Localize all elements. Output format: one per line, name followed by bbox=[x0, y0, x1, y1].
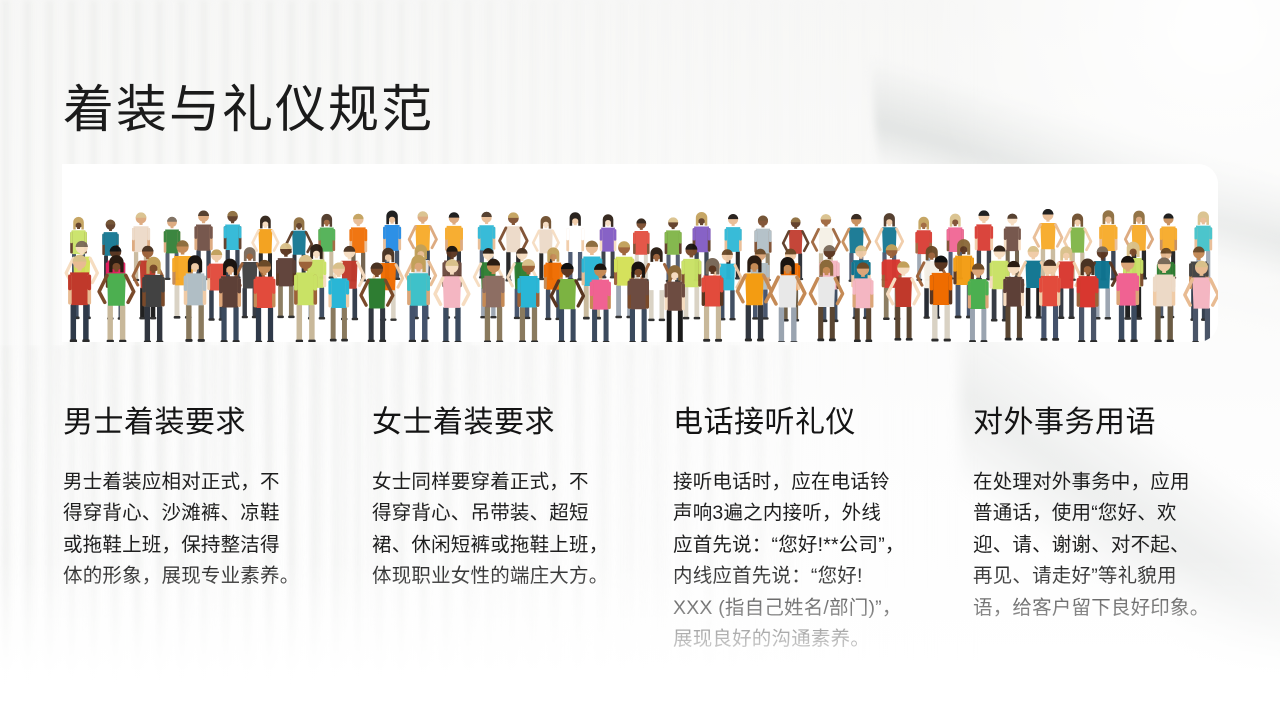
crowd-of-people-photo bbox=[62, 164, 1218, 342]
page-title: 着装与礼仪规范 bbox=[63, 80, 434, 140]
column-heading: 男士着装要求 bbox=[63, 404, 331, 442]
slide-canvas: 着装与礼仪规范 男士着装要求 男士着装应相对正式，不 得穿背心、沙滩裤、凉鞋 或… bbox=[0, 0, 1280, 719]
background-bottom-fade bbox=[0, 559, 1280, 719]
crowd-photo-banner bbox=[62, 164, 1218, 342]
column-heading: 电话接听礼仪 bbox=[673, 404, 935, 442]
column-heading: 女士着装要求 bbox=[372, 404, 640, 442]
column-heading: 对外事务用语 bbox=[973, 404, 1235, 442]
